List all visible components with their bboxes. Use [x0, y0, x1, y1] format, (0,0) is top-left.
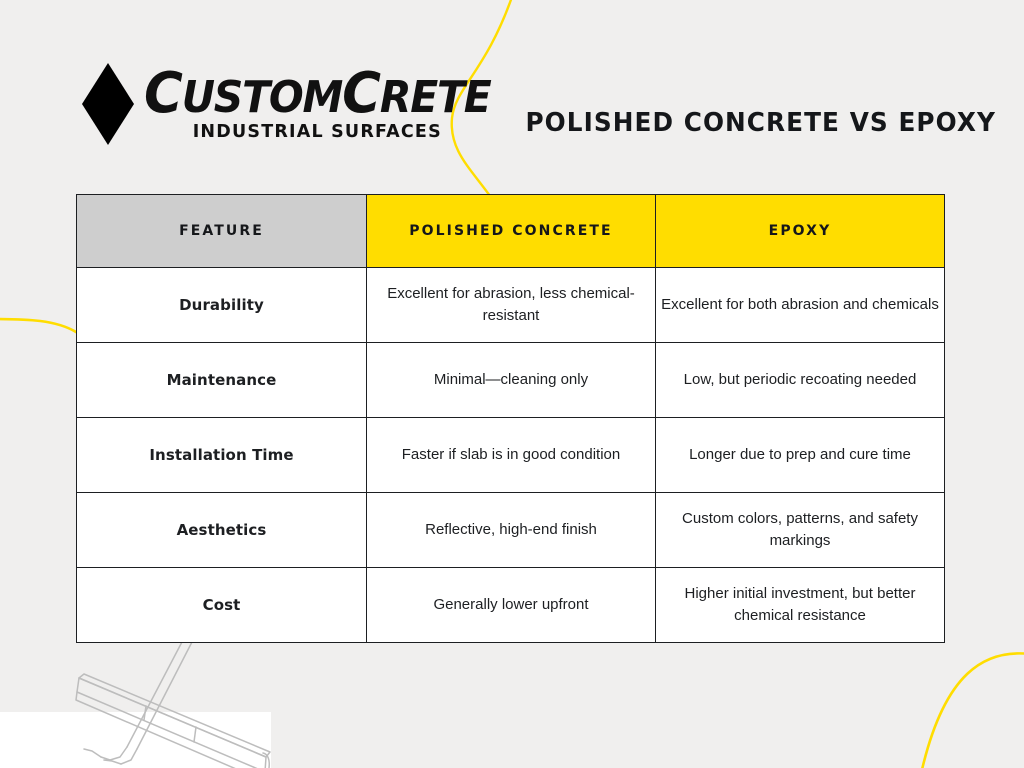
cell-aesthetics-polished-concrete: Reflective, high-end finish	[367, 493, 656, 568]
table-row: Installation Time Faster if slab is in g…	[77, 418, 945, 493]
table-header-row: FEATURE POLISHED CONCRETE EPOXY	[77, 195, 945, 268]
cell-maintenance-polished-concrete: Minimal—cleaning only	[367, 343, 656, 418]
row-feature-aesthetics: Aesthetics	[77, 493, 367, 568]
cell-cost-epoxy: Higher initial investment, but better ch…	[656, 568, 945, 643]
cell-cost-polished-concrete: Generally lower upfront	[367, 568, 656, 643]
table-row: Durability Excellent for abrasion, less …	[77, 268, 945, 343]
diamond-icon	[82, 63, 134, 145]
cell-aesthetics-epoxy: Custom colors, patterns, and safety mark…	[656, 493, 945, 568]
brand-wordmark: CUSTOMCRETE INDUSTRIAL SURFACES	[144, 67, 491, 142]
column-header-polished-concrete: POLISHED CONCRETE	[367, 195, 656, 268]
column-header-epoxy: EPOXY	[656, 195, 945, 268]
column-header-feature: FEATURE	[77, 195, 367, 268]
cell-durability-epoxy: Excellent for both abrasion and chemical…	[656, 268, 945, 343]
brand-name: CUSTOMCRETE	[144, 65, 491, 121]
table-row: Maintenance Minimal—cleaning only Low, b…	[77, 343, 945, 418]
brand-name-rete: RETE	[380, 72, 491, 123]
page-title: POLISHED CONCRETE VS EPOXY	[525, 108, 942, 138]
yellow-curve-bottom-right	[921, 653, 1024, 768]
table-header: FEATURE POLISHED CONCRETE EPOXY	[77, 195, 945, 268]
cell-installation-time-epoxy: Longer due to prep and cure time	[656, 418, 945, 493]
row-feature-installation-time: Installation Time	[77, 418, 367, 493]
brand-name-c2: C	[342, 61, 380, 126]
cell-durability-polished-concrete: Excellent for abrasion, less chemical-re…	[367, 268, 656, 343]
comparison-table: FEATURE POLISHED CONCRETE EPOXY Durabili…	[76, 194, 945, 643]
brand-name-ustom: USTOM	[182, 72, 342, 123]
row-feature-maintenance: Maintenance	[77, 343, 367, 418]
brand-tagline: INDUSTRIAL SURFACES	[193, 124, 442, 142]
white-corner-block	[0, 712, 271, 768]
table-body: Durability Excellent for abrasion, less …	[77, 268, 945, 643]
slide-canvas: CUSTOMCRETE INDUSTRIAL SURFACES POLISHED…	[0, 0, 1024, 768]
yellow-curve-left	[0, 319, 76, 332]
table-row: Aesthetics Reflective, high-end finish C…	[77, 493, 945, 568]
row-feature-cost: Cost	[77, 568, 367, 643]
cell-maintenance-epoxy: Low, but periodic recoating needed	[656, 343, 945, 418]
row-feature-durability: Durability	[77, 268, 367, 343]
brand-name-c1: C	[144, 61, 182, 126]
table-row: Cost Generally lower upfront Higher init…	[77, 568, 945, 643]
cell-installation-time-polished-concrete: Faster if slab is in good condition	[367, 418, 656, 493]
brand-logo: CUSTOMCRETE INDUSTRIAL SURFACES	[82, 58, 422, 150]
